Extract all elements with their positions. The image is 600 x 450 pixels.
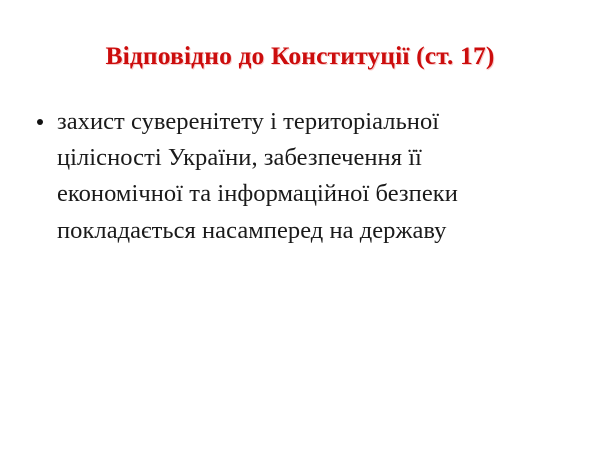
list-item-line: захист суверенітету і територіальної (57, 104, 577, 140)
slide-body: захист суверенітету і територіальної ціл… (32, 104, 577, 249)
list-item: захист суверенітету і територіальної ціл… (32, 104, 577, 249)
list-item-line: покладається насамперед на державу (57, 213, 577, 249)
presentation-slide: Відповідно до Конституції (ст. 17) захис… (0, 0, 600, 450)
list-item-line: економічної та інформаційної безпеки (57, 176, 577, 212)
page-title: Відповідно до Конституції (ст. 17) (0, 41, 600, 71)
bullet-dot-icon (37, 119, 43, 125)
list-item-text: захист суверенітету і територіальної ціл… (57, 104, 577, 249)
list-item-line: цілісності України, забезпечення її (57, 140, 577, 176)
